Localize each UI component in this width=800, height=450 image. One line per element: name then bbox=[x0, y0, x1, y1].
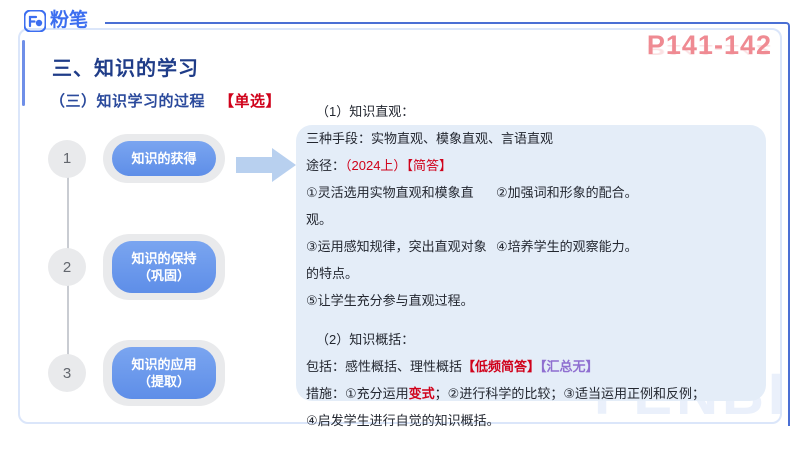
fb-logo-icon bbox=[24, 10, 46, 32]
section-1-title: （1）知识直观： bbox=[306, 98, 792, 125]
section-1-path-year: （2024上） bbox=[345, 158, 406, 173]
content-body: （1）知识直观： 三种手段：实物直观、模象直观、言语直观 途径：（2024上）【… bbox=[306, 98, 792, 434]
brand-name: 粉笔 bbox=[50, 10, 88, 32]
section-2-include: 包括：感性概括、理性概括【低频简答】【汇总无】 bbox=[306, 353, 792, 380]
flow-step-3-pill-halo: 知识的应用 （提取） bbox=[103, 340, 225, 406]
process-flow: 1 知识的获得 2 知识的保持 （巩固） 3 知识的应用 （提取） bbox=[48, 128, 258, 408]
flow-step-3-label: 知识的应用 （提取） bbox=[112, 347, 216, 399]
section-subtitle-text: （三）知识学习的过程 bbox=[50, 90, 205, 111]
section-2-measures-label: 措施：①充分运用 bbox=[306, 386, 409, 401]
slide-canvas: FENBI 粉笔 P141-142 P141-142 三、知识的学习 （三）知识… bbox=[0, 0, 800, 450]
section-1-item-5: ⑤让学生充分参与直观过程。 bbox=[306, 287, 496, 314]
section-subtitle-tag: 【单选】 bbox=[219, 90, 281, 111]
section-1-item-4: ④培养学生的观察能力。 bbox=[496, 233, 792, 287]
section-1-item-row-3: ⑤让学生充分参与直观过程。 bbox=[306, 287, 792, 314]
section-2-measures-rest: ；②进行科学的比较；③适当运用正例和反例； bbox=[435, 386, 705, 401]
section-2-title: （2）知识概括： bbox=[306, 326, 792, 353]
section-1-path: 途径：（2024上）【简答】 bbox=[306, 152, 792, 179]
flow-step-2-number: 2 bbox=[48, 248, 86, 286]
flow-step-3-number: 3 bbox=[48, 354, 86, 392]
left-accent-bar bbox=[22, 40, 25, 106]
section-1-item-2: ②加强词和形象的配合。 bbox=[496, 179, 792, 233]
flow-step-3[interactable]: 3 知识的应用 （提取） bbox=[48, 340, 225, 406]
section-2-measures-line-2: ④启发学生进行自觉的知识概括。 bbox=[306, 407, 792, 434]
page-ref: P141-142 bbox=[647, 30, 772, 61]
flow-step-1-pill-halo: 知识的获得 bbox=[103, 134, 225, 183]
flow-step-2[interactable]: 2 知识的保持 （巩固） bbox=[48, 234, 225, 300]
section-2-tag-red: 【低频简答】 bbox=[462, 359, 540, 374]
section-2-include-label: 包括：感性概括、理性概括 bbox=[306, 359, 462, 374]
section-1-means: 三种手段：实物直观、模象直观、言语直观 bbox=[306, 125, 792, 152]
flow-step-1[interactable]: 1 知识的获得 bbox=[48, 134, 225, 183]
right-arrow-icon bbox=[236, 146, 298, 184]
flow-step-2-pill-halo: 知识的保持 （巩固） bbox=[103, 234, 225, 300]
brand-logo: 粉笔 bbox=[24, 10, 88, 32]
section-1-item-row-1: ①灵活选用实物直观和模象直观。 ②加强词和形象的配合。 bbox=[306, 179, 792, 233]
section-1-path-label: 途径： bbox=[306, 158, 345, 173]
flow-step-2-label: 知识的保持 （巩固） bbox=[112, 241, 216, 293]
flow-step-1-number: 1 bbox=[48, 140, 86, 178]
section-2-measures-line-1: 措施：①充分运用变式；②进行科学的比较；③适当运用正例和反例； bbox=[306, 380, 792, 407]
page-title: 三、知识的学习 bbox=[52, 52, 199, 81]
section-2-measures-highlight: 变式 bbox=[409, 386, 435, 401]
section-1-item-1: ①灵活选用实物直观和模象直观。 bbox=[306, 179, 496, 233]
section-1-item-row-2: ③运用感知规律，突出直观对象的特点。 ④培养学生的观察能力。 bbox=[306, 233, 792, 287]
flow-step-1-label: 知识的获得 bbox=[112, 141, 216, 176]
section-1-item-3: ③运用感知规律，突出直观对象的特点。 bbox=[306, 233, 496, 287]
section-1-item-6 bbox=[496, 287, 792, 314]
section-subtitle: （三）知识学习的过程 【单选】 bbox=[50, 90, 281, 111]
section-1-path-tag: 【简答】 bbox=[406, 158, 452, 173]
section-2-tag-purple: 【汇总无】 bbox=[540, 359, 599, 374]
